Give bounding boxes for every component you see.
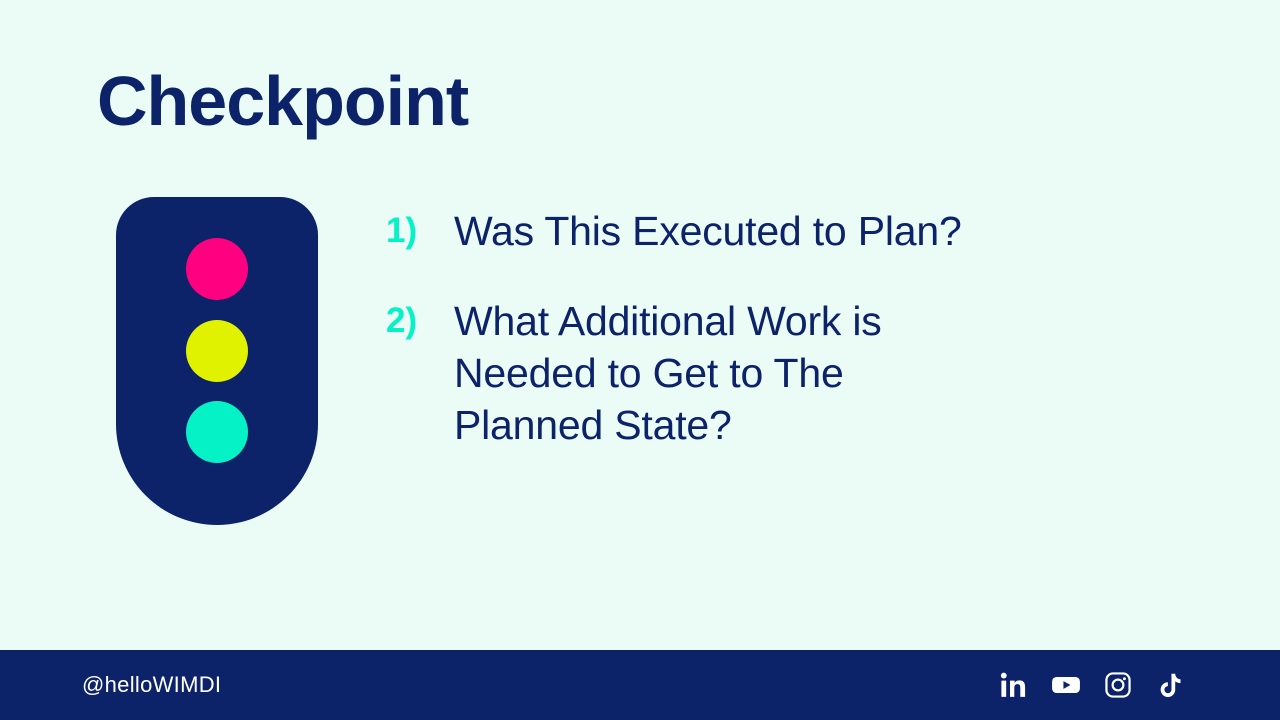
list-item-text: What Additional Work is Needed to Get to… — [454, 295, 1146, 451]
yellow-lamp — [186, 320, 248, 382]
list-item-marker: 2) — [386, 295, 454, 347]
question-list: 1) Was This Executed to Plan? 2) What Ad… — [386, 205, 1146, 451]
footer-bar: @helloWIMDI — [0, 650, 1280, 720]
youtube-icon[interactable] — [1051, 670, 1081, 700]
list-item-line: Was This Executed to Plan? — [454, 205, 1146, 257]
traffic-light-graphic — [116, 197, 318, 525]
green-lamp — [186, 401, 248, 463]
slide-canvas: Checkpoint 1) Was This Executed to Plan?… — [0, 0, 1280, 720]
instagram-icon[interactable] — [1103, 670, 1133, 700]
red-lamp — [186, 238, 248, 300]
list-item-line: What Additional Work is — [454, 295, 1146, 347]
list-item-text: Was This Executed to Plan? — [454, 205, 1146, 257]
linkedin-icon[interactable] — [999, 670, 1029, 700]
list-item: 2) What Additional Work is Needed to Get… — [386, 295, 1146, 451]
tiktok-icon[interactable] — [1155, 670, 1185, 700]
social-links — [999, 670, 1185, 700]
list-item-line: Needed to Get to The — [454, 347, 1146, 399]
list-item: 1) Was This Executed to Plan? — [386, 205, 1146, 257]
social-handle: @helloWIMDI — [82, 674, 221, 696]
list-item-marker: 1) — [386, 205, 454, 257]
list-item-line: Planned State? — [454, 399, 1146, 451]
page-title: Checkpoint — [97, 66, 468, 136]
